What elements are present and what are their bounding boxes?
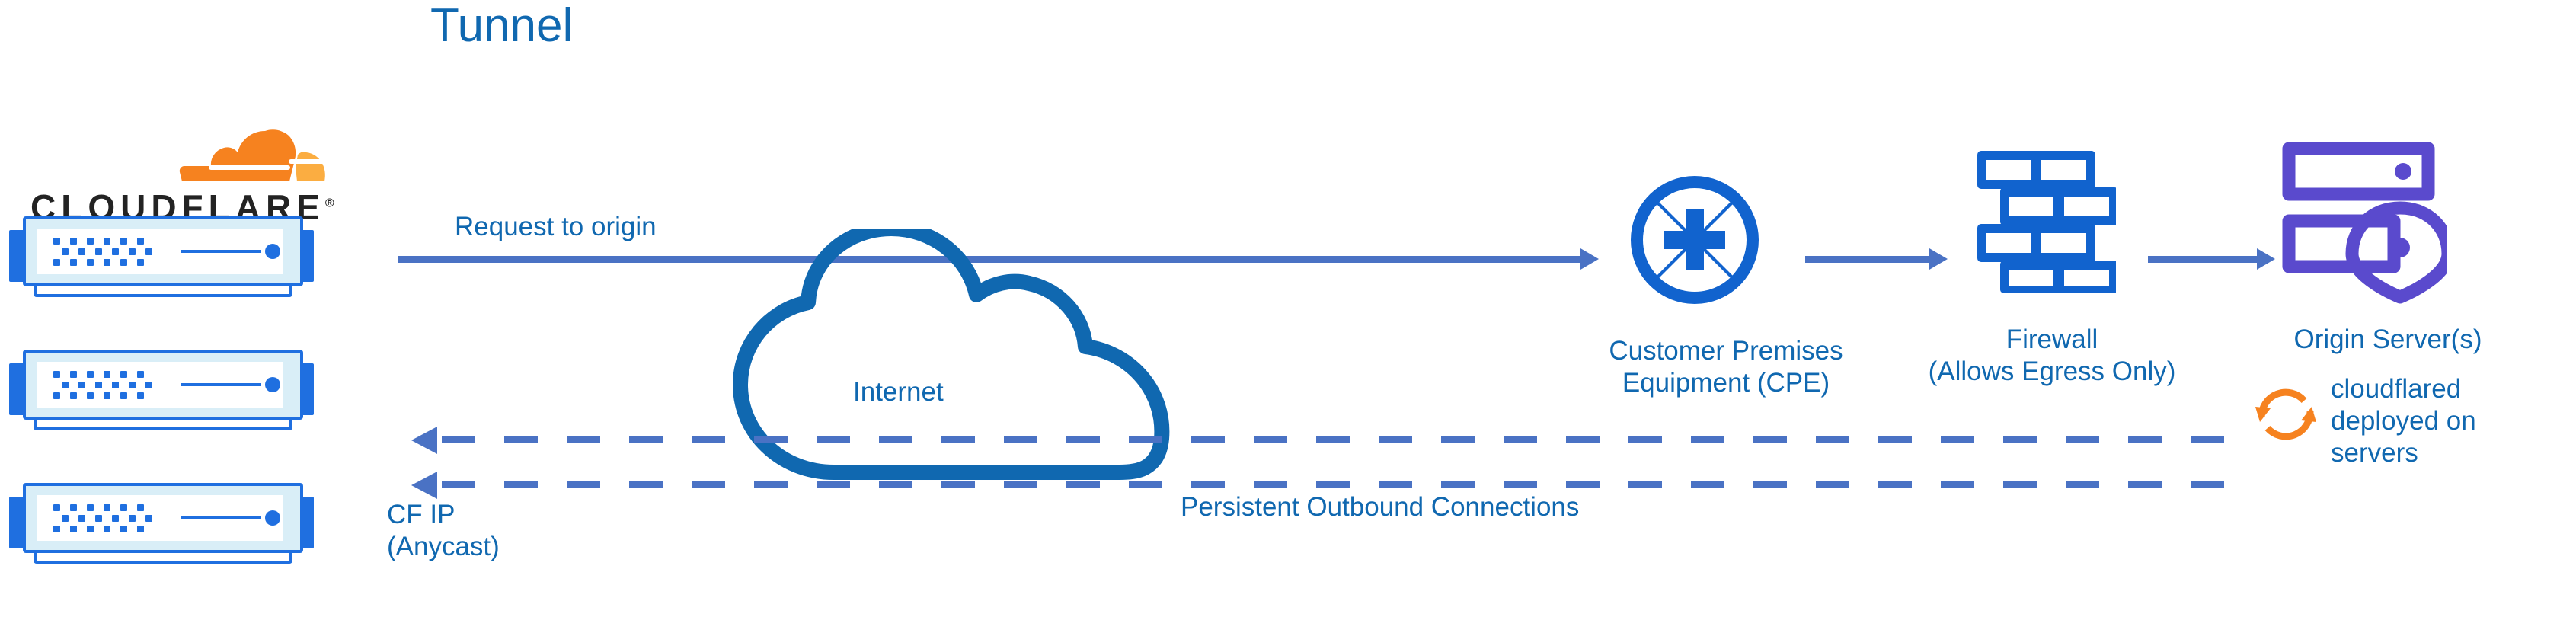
sync-circular-arrows-icon <box>2251 379 2323 452</box>
internet-label: Internet <box>853 377 944 408</box>
server-status-line <box>181 516 261 519</box>
server-faceplate <box>37 362 283 408</box>
server-faceplate <box>37 495 283 541</box>
server-status-line <box>181 383 261 386</box>
dashed-arrowhead-top <box>411 427 437 454</box>
cf-ip-anycast-label: CF IP (Anycast) <box>387 499 615 563</box>
firewall-label-line-1: Firewall <box>1877 324 2227 356</box>
cpe-to-firewall-arrow <box>1805 256 1931 263</box>
server-port-dots <box>53 371 152 400</box>
server-body <box>23 216 303 286</box>
cpe-label-line-1: Customer Premises <box>1558 335 1894 367</box>
cf-ip-label-line-1: CF IP <box>387 499 615 531</box>
edge-server-1 <box>9 213 314 301</box>
cpe-label-line-2: Equipment (CPE) <box>1558 367 1894 399</box>
cpe-label: Customer Premises Equipment (CPE) <box>1558 335 1894 399</box>
brick-wall-icon <box>1971 145 2116 297</box>
page-title: Tunnel <box>430 0 573 53</box>
edge-server-2 <box>9 347 314 434</box>
edge-server-3 <box>9 480 314 567</box>
server-port-dots <box>53 504 152 533</box>
cloudflared-label: cloudflared deployed on servers <box>2331 373 2559 469</box>
request-to-origin-label: Request to origin <box>455 211 657 243</box>
router-four-arrows-icon <box>1626 171 1763 312</box>
persistent-connection-line-bottom <box>442 481 2243 488</box>
cloudflared-label-line-3: servers <box>2331 437 2559 469</box>
firewall-label: Firewall (Allows Egress Only) <box>1877 324 2227 388</box>
server-led-icon <box>265 510 280 526</box>
server-port-dots <box>53 238 152 267</box>
cf-ip-label-line-2: (Anycast) <box>387 531 615 563</box>
cloudflare-cloud-mark-icon <box>175 114 328 190</box>
cloud-icon <box>708 229 1181 484</box>
cloudflared-label-line-1: cloudflared <box>2331 373 2559 405</box>
firewall-label-line-2: (Allows Egress Only) <box>1877 356 2227 388</box>
persistent-outbound-connections-label: Persistent Outbound Connections <box>1181 491 1579 523</box>
origin-server-label: Origin Server(s) <box>2236 324 2540 356</box>
server-led-icon <box>265 377 280 392</box>
server-faceplate <box>37 229 283 274</box>
server-body <box>23 350 303 420</box>
server-led-icon <box>265 244 280 259</box>
cloudflared-label-line-2: deployed on <box>2331 405 2559 437</box>
persistent-connection-line-top <box>442 436 2243 443</box>
server-rack-pin-icon <box>2280 141 2447 308</box>
server-status-line <box>181 250 261 253</box>
registered-mark: ® <box>325 197 334 210</box>
dashed-arrowhead-bottom <box>411 472 437 499</box>
firewall-to-origin-arrow <box>2148 256 2258 263</box>
cloudflare-logo: CLOUDFLARE® <box>23 114 343 213</box>
server-body <box>23 483 303 553</box>
